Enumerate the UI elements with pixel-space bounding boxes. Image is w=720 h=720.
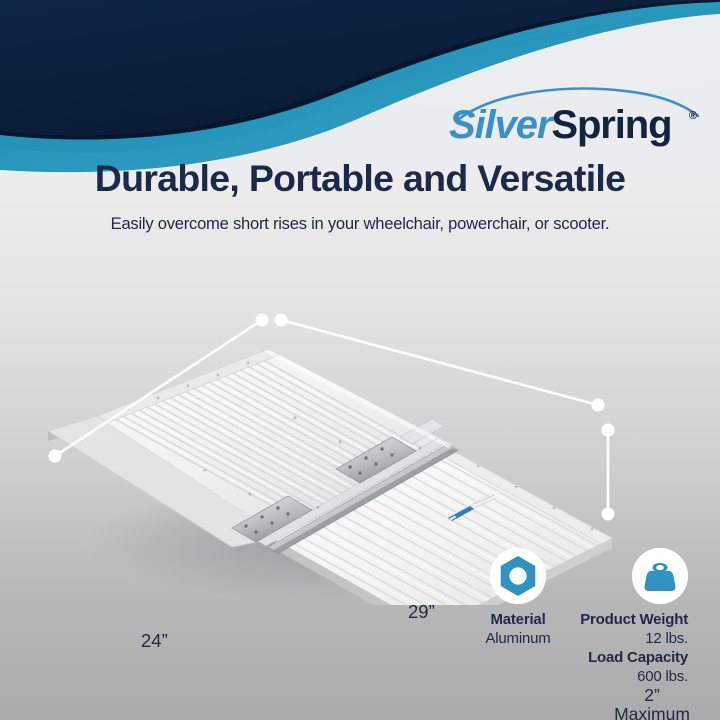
logo-wordmark: SilverSpring — [449, 103, 695, 147]
dimension-dot — [275, 314, 288, 327]
spec-weight-text: Product Weight 12 lbs. Load Capacity 600… — [504, 610, 688, 686]
dimension-dot — [256, 314, 269, 327]
spec-row: Material Aluminum Product Weight 12 lbs.… — [446, 548, 720, 698]
marketing-infographic: SilverSpring ® Durable, Portable and Ver… — [0, 0, 720, 720]
dimension-dot — [602, 424, 615, 437]
dimension-line-29 — [281, 320, 598, 405]
hex-nut-icon — [490, 548, 546, 604]
rise-line-2: Maximum — [600, 705, 704, 720]
spec-weight: Product Weight 12 lbs. Load Capacity 600… — [632, 548, 688, 604]
registered-trademark-icon: ® — [689, 110, 697, 122]
spec-weight-value: 12 lbs. — [504, 629, 688, 648]
logo-silver-text: Silver — [449, 103, 551, 147]
spec-material: Material Aluminum — [490, 548, 546, 604]
weight-icon — [632, 548, 688, 604]
spec-capacity-value: 600 lbs. — [504, 667, 688, 686]
dimension-dot — [602, 508, 615, 521]
page-title: Durable, Portable and Versatile — [0, 157, 720, 200]
dimension-dot — [592, 399, 605, 412]
brand-logo: SilverSpring ® — [449, 86, 695, 148]
dimension-line-24 — [55, 320, 262, 456]
dimension-dot — [49, 450, 62, 463]
logo-spring-text: Spring — [551, 103, 671, 147]
page-subtitle: Easily overcome short rises in your whee… — [0, 214, 720, 234]
spec-capacity-title: Load Capacity — [504, 648, 688, 667]
dimension-label-width: 24” — [141, 630, 168, 652]
spec-weight-title: Product Weight — [504, 610, 688, 629]
